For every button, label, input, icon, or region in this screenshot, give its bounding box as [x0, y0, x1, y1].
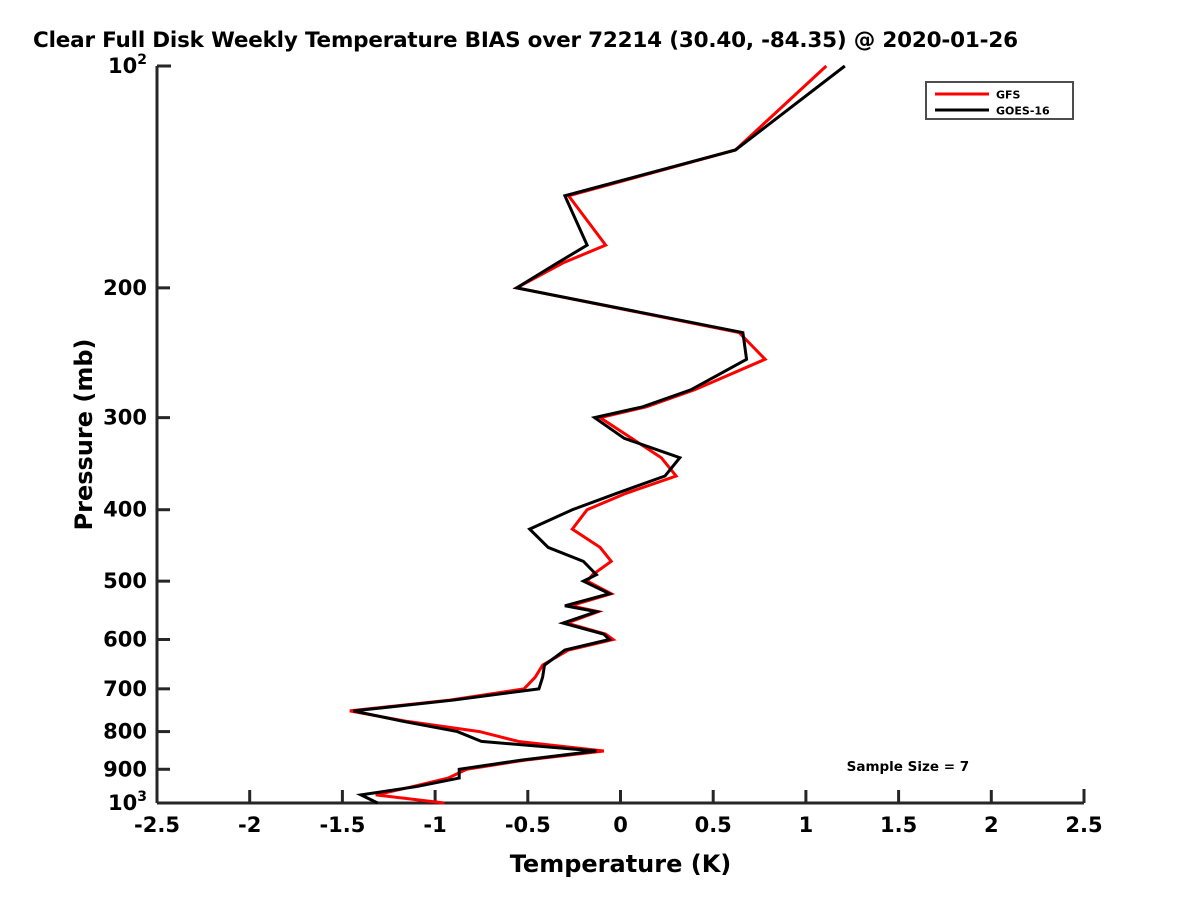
- x-tick-label: 1.5: [880, 813, 917, 837]
- y-tick-label: 103: [108, 789, 147, 815]
- y-tick-label: 700: [103, 677, 147, 701]
- x-tick-label: 2: [984, 813, 999, 837]
- y-tick-label: 500: [103, 569, 147, 593]
- sample-size-annotation: Sample Size = 7: [847, 759, 970, 775]
- series-line-goes-16: [354, 66, 845, 803]
- y-tick-label: 800: [103, 720, 147, 744]
- y-tick-label: 102: [108, 52, 147, 78]
- y-axis-ticks: 102200300400500600700800900103: [103, 52, 170, 815]
- data-series-group: [350, 66, 845, 803]
- x-tick-label: -1.5: [319, 813, 365, 837]
- chart-plot: -2.5-2-1.5-1-0.500.511.522.5 10220030040…: [0, 0, 1200, 900]
- x-tick-label: 0.5: [695, 813, 732, 837]
- x-tick-label: 2.5: [1065, 813, 1102, 837]
- figure-canvas: Clear Full Disk Weekly Temperature BIAS …: [0, 0, 1200, 900]
- y-tick-label: 200: [103, 276, 147, 300]
- y-tick-label: 900: [103, 757, 147, 781]
- chart-annotations: Sample Size = 7: [847, 759, 970, 775]
- y-tick-label: 600: [103, 627, 147, 651]
- series-line-gfs: [350, 66, 826, 803]
- x-axis-title: Temperature (K): [510, 850, 732, 878]
- x-tick-label: 1: [799, 813, 814, 837]
- chart-legend: GFSGOES-16: [926, 82, 1073, 119]
- x-tick-label: -1: [423, 813, 446, 837]
- x-tick-label: -2.5: [134, 813, 180, 837]
- x-tick-label: -2: [238, 813, 261, 837]
- x-tick-label: -0.5: [505, 813, 551, 837]
- legend-label-goes-16: GOES-16: [996, 105, 1050, 118]
- x-tick-label: 0: [613, 813, 628, 837]
- legend-label-gfs: GFS: [996, 89, 1021, 102]
- y-tick-label: 300: [103, 406, 147, 430]
- x-axis-ticks: -2.5-2-1.5-1-0.500.511.522.5: [134, 790, 1103, 837]
- y-tick-label: 400: [103, 498, 147, 522]
- y-axis-title: Pressure (mb): [70, 339, 98, 531]
